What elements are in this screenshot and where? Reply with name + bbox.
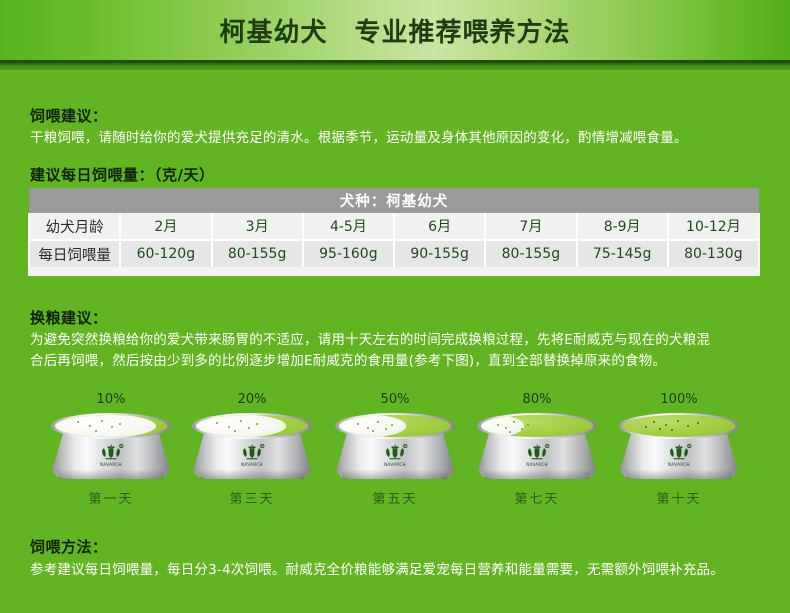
feeding-amount-table: 犬种：柯基幼犬 幼犬月龄 2月 3月 4-5月 6月 7月 8-9月 10-12…	[28, 188, 760, 276]
feeding-advice-body: 干粮饲喂，请随时给你的爱犬提供充足的清水。根据季节，运动量及身体其他原因的变化，…	[30, 128, 770, 149]
page-header: 柯基幼犬 专业推荐喂养方法	[0, 0, 790, 60]
bowl-rim	[51, 413, 171, 439]
new-food-fill	[623, 415, 735, 437]
table-title: 犬种：柯基幼犬	[29, 188, 759, 213]
crest-icon	[98, 443, 124, 462]
brand-wordmark: NAVARCH	[226, 462, 278, 467]
feeding-advice-heading: 饲喂建议：	[30, 105, 108, 126]
table-row: 每日饲喂量 60-120g 80-155g 95-160g 90-155g 80…	[29, 240, 759, 267]
brand-logo: NAVARCH	[226, 443, 278, 469]
bowl-food-surface	[55, 415, 167, 437]
page-title: 柯基幼犬 专业推荐喂养方法	[0, 0, 790, 60]
switch-advice-body: 为避免突然换粮给你的爱犬带来肠胃的不适应，请用十天左右的时间完成换粮过程，先将E…	[30, 330, 778, 372]
old-food-fill	[55, 415, 156, 437]
row-label: 每日饲喂量	[29, 240, 120, 267]
dog-bowl-icon: NAVARCH	[619, 413, 739, 481]
switch-advice-heading: 换粮建议：	[30, 307, 108, 328]
step-day: 第一天	[36, 488, 186, 507]
bowl-food-surface	[339, 415, 451, 437]
transition-step-4: 80%	[462, 392, 612, 507]
cell-amount-0: 60-120g	[120, 240, 211, 267]
brand-logo: NAVARCH	[85, 443, 137, 469]
bowl-rim	[192, 413, 312, 439]
cell-amount-6: 80-130g	[668, 240, 759, 267]
brand-wordmark: NAVARCH	[85, 462, 137, 467]
step-percent: 100%	[604, 392, 754, 408]
brand-wordmark: NAVARCH	[369, 462, 421, 467]
row-label: 幼犬月龄	[29, 213, 120, 240]
step-day: 第三天	[177, 488, 327, 507]
cell-age-0: 2月	[120, 213, 211, 240]
cell-age-2: 4-5月	[303, 213, 394, 240]
feeding-method-body: 参考建议每日饲喂量，每日分3-4次饲喂。耐威克全价粮能够满足爱宠每日营养和能量需…	[30, 560, 778, 581]
step-percent: 80%	[462, 392, 612, 408]
feeding-method-heading: 饲喂方法：	[30, 536, 108, 557]
transition-step-3: 50%	[320, 392, 470, 507]
transition-step-5: 100%	[604, 392, 754, 507]
bowl-rim	[477, 413, 597, 439]
crest-icon	[239, 443, 265, 462]
step-day: 第五天	[320, 488, 470, 507]
brand-wordmark: NAVARCH	[511, 462, 563, 467]
transition-step-1: 10%	[36, 392, 186, 507]
bowl-food-surface	[196, 415, 308, 437]
cell-age-1: 3月	[212, 213, 303, 240]
dog-bowl-icon: NAVARCH	[51, 413, 171, 481]
food-transition-chart: 10%	[0, 392, 790, 517]
cell-age-3: 6月	[394, 213, 485, 240]
brand-logo: NAVARCH	[369, 443, 421, 469]
transition-step-2: 20%	[177, 392, 327, 507]
cell-amount-5: 75-145g	[577, 240, 668, 267]
cell-age-6: 10-12月	[668, 213, 759, 240]
step-day: 第十天	[604, 488, 754, 507]
crest-icon	[666, 443, 692, 462]
table-row: 幼犬月龄 2月 3月 4-5月 6月 7月 8-9月 10-12月	[29, 213, 759, 240]
step-day: 第七天	[462, 488, 612, 507]
daily-amount-label: 建议每日饲喂量：（克/天）	[30, 164, 214, 185]
cell-age-5: 8-9月	[577, 213, 668, 240]
step-percent: 10%	[36, 392, 186, 408]
brand-logo: NAVARCH	[653, 443, 705, 469]
cell-age-4: 7月	[485, 213, 576, 240]
step-percent: 50%	[320, 392, 470, 408]
table-footer-strip	[28, 267, 760, 276]
brand-logo: NAVARCH	[511, 443, 563, 469]
dog-bowl-icon: NAVARCH	[192, 413, 312, 481]
old-food-fill	[196, 415, 286, 437]
cell-amount-2: 95-160g	[303, 240, 394, 267]
brand-wordmark: NAVARCH	[653, 462, 705, 467]
bowl-food-surface	[623, 415, 735, 437]
cell-amount-3: 90-155g	[394, 240, 485, 267]
crest-icon	[524, 443, 550, 462]
crest-icon	[382, 443, 408, 462]
dog-bowl-icon: NAVARCH	[477, 413, 597, 481]
cell-amount-1: 80-155g	[212, 240, 303, 267]
dog-bowl-icon: NAVARCH	[335, 413, 455, 481]
step-percent: 20%	[177, 392, 327, 408]
bowl-rim	[335, 413, 455, 439]
page-root: 柯基幼犬 专业推荐喂养方法 饲喂建议： 干粮饲喂，请随时给你的爱犬提供充足的清水…	[0, 0, 790, 613]
header-divider	[0, 60, 790, 70]
cell-amount-4: 80-155g	[485, 240, 576, 267]
bowl-food-surface	[481, 415, 593, 437]
bowl-rim	[619, 413, 739, 439]
